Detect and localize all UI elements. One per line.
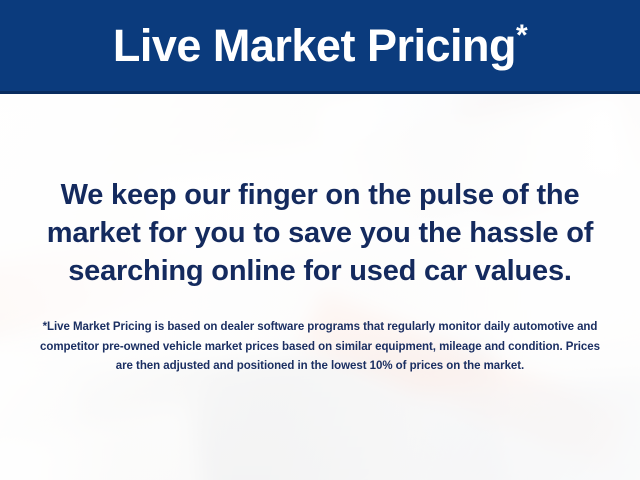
- disclaimer-text: *Live Market Pricing is based on dealer …: [30, 318, 610, 377]
- header-underline-divider: [0, 91, 640, 94]
- background-shape-right-fender: [424, 375, 640, 480]
- live-market-pricing-banner: Live Market Pricing* We keep our finger …: [0, 0, 640, 480]
- page-title: Live Market Pricing*: [0, 0, 640, 91]
- page-title-text: Live Market Pricing: [113, 23, 516, 68]
- headline-text: We keep our finger on the pulse of the m…: [26, 176, 614, 290]
- page-title-asterisk: *: [516, 21, 527, 51]
